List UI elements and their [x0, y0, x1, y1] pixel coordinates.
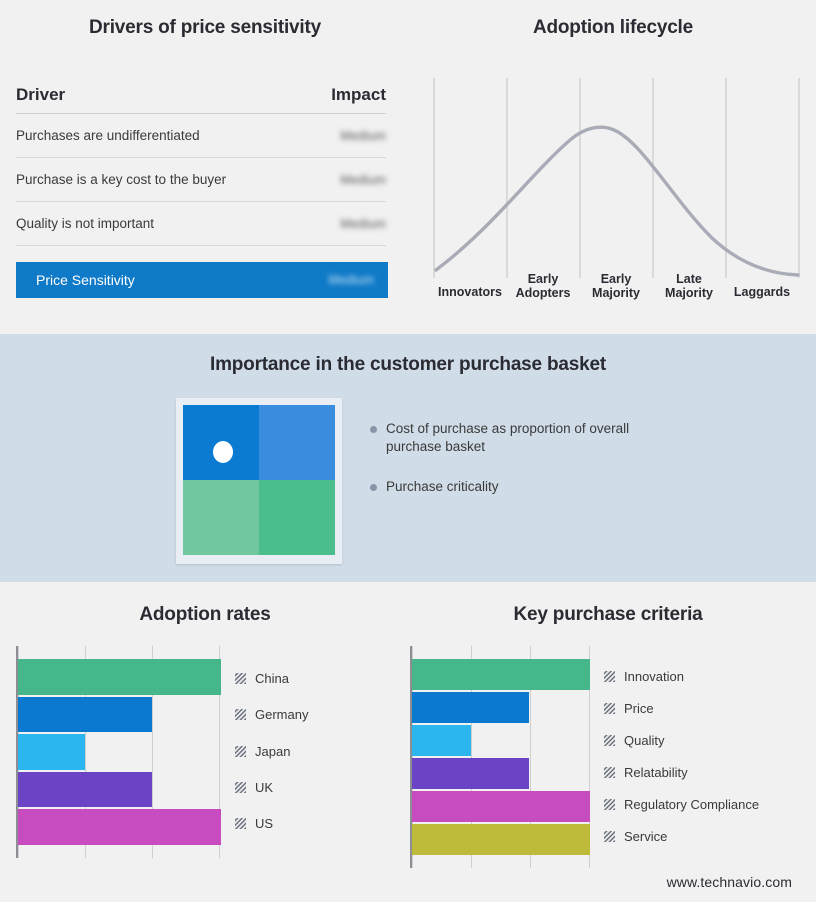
adoption-plot-area: [16, 646, 221, 858]
stage-label-early-majority-line2: Majority: [592, 286, 640, 300]
legend-label: China: [255, 671, 289, 686]
panel-title-drivers: Drivers of price sensitivity: [0, 17, 410, 39]
lifecycle-bell-curve-chart: Innovators Early Adopters Early Majority…: [432, 78, 802, 308]
impact-value: Medium: [340, 217, 386, 231]
adoption-bars: [18, 658, 221, 846]
impact-value-cell: Medium: [281, 127, 386, 145]
stage-label-laggards: Laggards: [734, 285, 790, 299]
stage-label-late-majority-line2: Majority: [665, 286, 713, 300]
bar-row: [412, 658, 590, 691]
bullet-icon: [370, 426, 377, 433]
bar-row: [18, 733, 221, 771]
bell-curve-path: [436, 127, 798, 275]
bar-row: [412, 790, 590, 823]
legend-label: Regulatory Compliance: [624, 797, 759, 812]
hatched-swatch-icon: [235, 709, 246, 720]
impact-value-cell-highlighted: Medium: [279, 271, 374, 289]
stage-label-late-majority-line1: Late: [676, 272, 702, 286]
legend-item-innovation: Innovation: [604, 660, 759, 692]
lifecycle-svg: Innovators Early Adopters Early Majority…: [432, 78, 802, 308]
stage-label-innovators: Innovators: [438, 285, 502, 299]
key-purchase-criteria-bar-chart: Innovation Price Quality Relatability: [410, 646, 810, 878]
criteria-legend: Innovation Price Quality Relatability: [604, 646, 759, 868]
hatched-swatch-icon: [235, 818, 246, 829]
bar-us: [18, 809, 221, 845]
hatched-swatch-icon: [604, 831, 615, 842]
lifecycle-gridlines: [434, 78, 799, 278]
impact-value: Medium: [328, 273, 374, 287]
bar-relatability: [412, 758, 529, 789]
impact-value: Medium: [340, 129, 386, 143]
bar-row: [412, 757, 590, 790]
legend-item-germany: Germany: [235, 696, 308, 732]
driver-label-highlighted: Price Sensitivity: [36, 272, 279, 288]
quadrant-grid: [183, 405, 335, 555]
top-section: Drivers of price sensitivity Driver Impa…: [0, 0, 816, 334]
hatched-swatch-icon: [604, 767, 615, 778]
legend-item-quality: Quality: [604, 724, 759, 756]
impact-value-cell: Medium: [281, 215, 386, 233]
table-row: Purchase is a key cost to the buyer Medi…: [16, 158, 386, 202]
infographic-page: Drivers of price sensitivity Driver Impa…: [0, 0, 816, 902]
driver-label: Quality is not important: [16, 216, 281, 231]
bar-row: [412, 724, 590, 757]
bar-row: [18, 771, 221, 809]
legend-label: Quality: [624, 733, 664, 748]
hatched-swatch-icon: [604, 671, 615, 682]
basket-legend: Cost of purchase as proportion of overal…: [370, 420, 670, 519]
impact-value-cell: Medium: [281, 171, 386, 189]
column-header-driver: Driver: [16, 85, 281, 105]
list-item: Purchase criticality: [370, 478, 670, 496]
basket-legend-label: Cost of purchase as proportion of overal…: [386, 420, 631, 456]
legend-item-us: US: [235, 806, 308, 842]
stage-label-early-adopters-line1: Early: [528, 272, 559, 286]
criteria-plot-area: [410, 646, 590, 868]
bar-row: [18, 808, 221, 846]
legend-item-relatability: Relatability: [604, 756, 759, 788]
bar-row: [412, 823, 590, 856]
panel-adoption-lifecycle: Adoption lifecycle: [410, 0, 816, 334]
bar-germany: [18, 697, 152, 733]
bar-japan: [18, 734, 85, 770]
bar-regulatory-compliance: [412, 791, 590, 822]
panel-key-purchase-criteria: Key purchase criteria: [400, 582, 816, 902]
panel-title-key-purchase-criteria: Key purchase criteria: [400, 604, 816, 626]
legend-item-service: Service: [604, 820, 759, 852]
legend-label: Innovation: [624, 669, 684, 684]
position-dot-marker: [213, 441, 233, 463]
legend-label: UK: [255, 780, 273, 795]
bar-service: [412, 824, 590, 855]
bar-row: [18, 658, 221, 696]
legend-label: Price: [624, 701, 654, 716]
driver-label: Purchase is a key cost to the buyer: [16, 172, 281, 187]
legend-label: Japan: [255, 744, 290, 759]
panel-title-adoption-rates: Adoption rates: [0, 604, 410, 626]
panel-title-lifecycle: Adoption lifecycle: [410, 17, 816, 39]
legend-label: US: [255, 816, 273, 831]
legend-label: Relatability: [624, 765, 688, 780]
bar-row: [412, 691, 590, 724]
list-item: Cost of purchase as proportion of overal…: [370, 420, 670, 456]
adoption-legend: China Germany Japan UK: [235, 646, 308, 858]
impact-value: Medium: [340, 173, 386, 187]
lifecycle-stage-labels: Innovators Early Adopters Early Majority…: [438, 272, 790, 300]
table-row: Quality is not important Medium: [16, 202, 386, 246]
legend-item-regulatory-compliance: Regulatory Compliance: [604, 788, 759, 820]
basket-legend-label: Purchase criticality: [386, 478, 499, 496]
legend-label: Germany: [255, 707, 308, 722]
driver-label: Purchases are undifferentiated: [16, 128, 281, 143]
legend-item-uk: UK: [235, 769, 308, 805]
drivers-table-header: Driver Impact: [16, 85, 386, 114]
drivers-table: Driver Impact Purchases are undifferenti…: [16, 85, 386, 298]
panel-drivers-of-price-sensitivity: Drivers of price sensitivity Driver Impa…: [0, 0, 410, 334]
legend-item-japan: Japan: [235, 733, 308, 769]
legend-label: Service: [624, 829, 667, 844]
section-importance-purchase-basket: Importance in the customer purchase bask…: [0, 334, 816, 582]
bar-innovation: [412, 659, 590, 690]
bar-price: [412, 692, 529, 723]
stage-label-early-majority-line1: Early: [601, 272, 632, 286]
bar-china: [18, 659, 221, 695]
criteria-bars: [412, 658, 590, 856]
stage-label-early-adopters-line2: Adopters: [516, 286, 571, 300]
bottom-section: Adoption rates: [0, 582, 816, 902]
table-row-highlighted-price-sensitivity: Price Sensitivity Medium: [16, 262, 388, 298]
legend-item-china: China: [235, 660, 308, 696]
quadrant-bottom-left: [183, 480, 259, 555]
hatched-swatch-icon: [235, 673, 246, 684]
bullet-icon: [370, 484, 377, 491]
panel-title-basket: Importance in the customer purchase bask…: [0, 354, 816, 376]
watermark-technavio: www.technavio.com: [667, 874, 792, 890]
table-row: Purchases are undifferentiated Medium: [16, 114, 386, 158]
legend-item-price: Price: [604, 692, 759, 724]
bar-row: [18, 696, 221, 734]
hatched-swatch-icon: [604, 703, 615, 714]
hatched-swatch-icon: [604, 799, 615, 810]
hatched-swatch-icon: [235, 746, 246, 757]
adoption-rates-bar-chart: China Germany Japan UK: [16, 646, 396, 868]
panel-adoption-rates: Adoption rates: [0, 582, 410, 902]
column-header-impact: Impact: [281, 85, 386, 105]
bar-quality: [412, 725, 471, 756]
quadrant-top-right: [259, 405, 335, 480]
quadrant-matrix-card: [176, 398, 342, 564]
quadrant-bottom-right: [259, 480, 335, 555]
bar-uk: [18, 772, 152, 808]
hatched-swatch-icon: [604, 735, 615, 746]
hatched-swatch-icon: [235, 782, 246, 793]
